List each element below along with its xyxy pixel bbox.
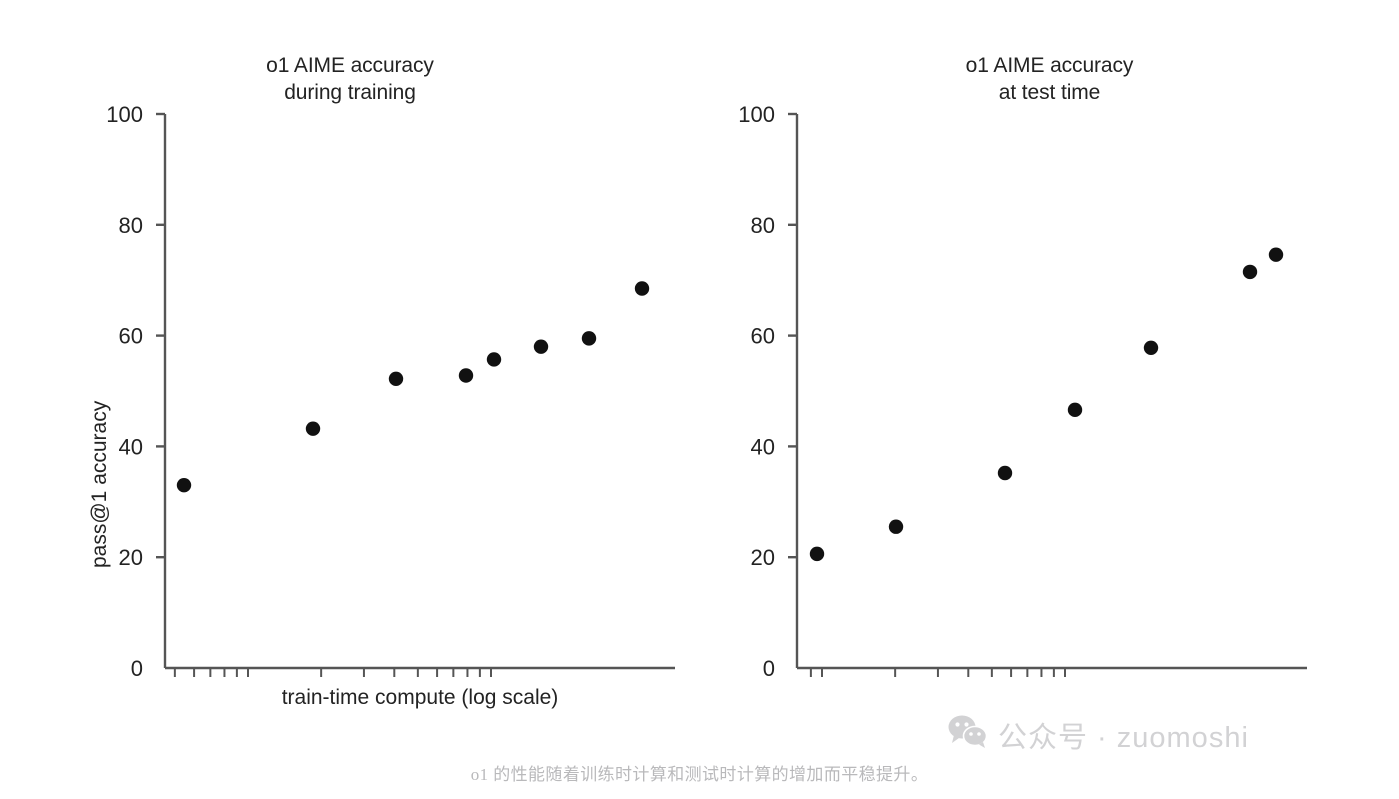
svg-text:40: 40: [751, 434, 775, 459]
chart-panel-test-time: o1 AIME accuracy at test time pass@1 acc…: [700, 0, 1399, 799]
svg-text:100: 100: [106, 102, 143, 127]
svg-text:60: 60: [119, 324, 143, 349]
plot-area-right: 020406080100: [700, 0, 1399, 799]
svg-text:0: 0: [763, 656, 775, 681]
svg-text:40: 40: [119, 434, 143, 459]
figure-container: o1 AIME accuracy during training pass@1 …: [0, 0, 1399, 799]
svg-text:80: 80: [751, 213, 775, 238]
watermark: 公众号 · zuomoshi: [948, 714, 1249, 756]
chart-panel-train-time: o1 AIME accuracy during training pass@1 …: [0, 0, 700, 799]
svg-text:0: 0: [131, 656, 143, 681]
svg-text:20: 20: [751, 545, 775, 570]
svg-text:80: 80: [119, 213, 143, 238]
svg-text:60: 60: [751, 324, 775, 349]
figure-caption: o1 的性能随着训练时计算和测试时计算的增加而平稳提升。: [0, 760, 1399, 785]
wechat-icon: [948, 715, 988, 756]
svg-text:100: 100: [738, 102, 775, 127]
svg-text:20: 20: [119, 545, 143, 570]
watermark-text: 公众号 · zuomoshi: [998, 714, 1249, 756]
plot-area-left: 020406080100: [0, 0, 700, 799]
